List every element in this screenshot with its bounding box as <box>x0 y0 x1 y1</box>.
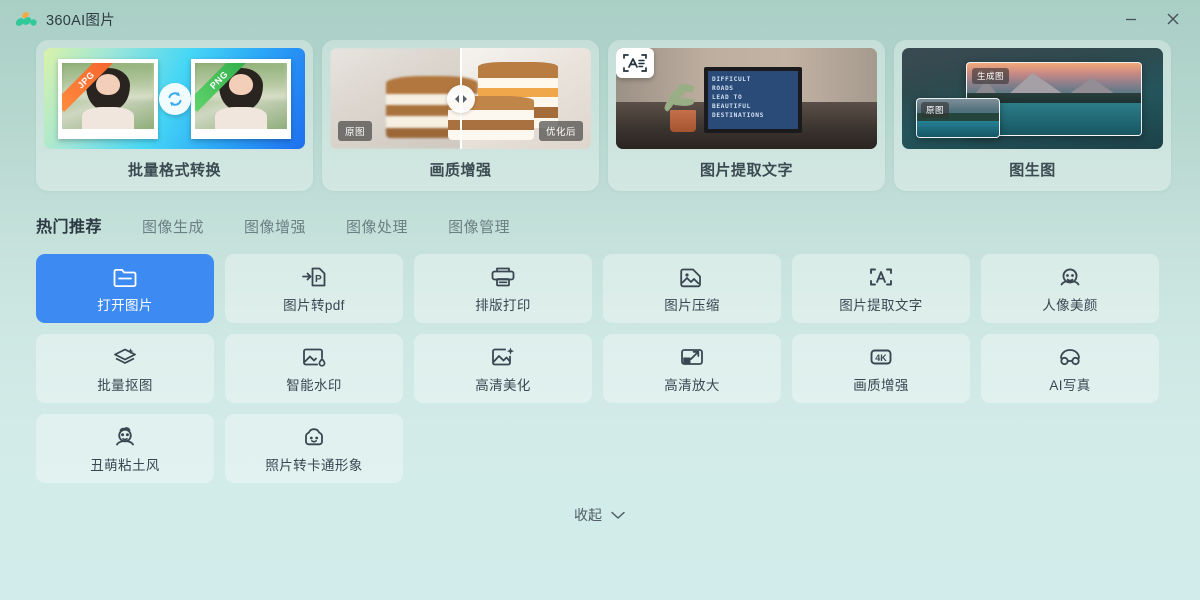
poster-line: DESTINATIONS <box>712 112 794 121</box>
feature-card-label: 批量格式转换 <box>128 159 221 180</box>
tool-open-image[interactable]: 打开图片 <box>36 254 214 323</box>
tool-label: 丑萌粘土风 <box>90 454 160 474</box>
tool-grid: 打开图片 P 图片转pdf 排版打印 <box>0 254 1200 483</box>
tool-label: 高清美化 <box>475 374 531 394</box>
text-scan-icon <box>868 264 894 290</box>
tab-image-manage[interactable]: 图像管理 <box>448 216 510 237</box>
close-icon <box>1164 10 1182 28</box>
chevron-down-icon <box>610 510 626 520</box>
tool-label: 图片提取文字 <box>839 294 922 314</box>
poster-line: BEAUTIFUL <box>712 103 794 112</box>
swap-arrows-icon <box>159 83 191 115</box>
tool-ai-portrait[interactable]: AI写真 <box>981 334 1159 403</box>
compress-image-icon <box>679 264 705 290</box>
feature-card-label: 图片提取文字 <box>700 159 793 180</box>
feature-card-image-to-text[interactable]: DIFFICULT ROADS LEAD TO BEAUTIFUL DESTIN… <box>608 40 885 191</box>
tool-quality-enhance[interactable]: 4K 画质增强 <box>792 334 970 403</box>
tool-label: 批量抠图 <box>97 374 153 394</box>
tab-image-enhance[interactable]: 图像增强 <box>244 216 306 237</box>
tool-layout-print[interactable]: 排版打印 <box>414 254 592 323</box>
clay-style-icon <box>112 424 138 450</box>
collapse-label: 收起 <box>574 505 602 525</box>
badge-original: 原图 <box>338 121 372 141</box>
printer-icon <box>490 264 516 290</box>
svg-text:4K: 4K <box>875 353 887 363</box>
ai-portrait-icon <box>1057 344 1083 370</box>
minimize-icon <box>1123 11 1139 27</box>
poster-line: DIFFICULT <box>712 76 794 85</box>
tool-photo-to-cartoon[interactable]: 照片转卡通形象 <box>225 414 403 483</box>
upscale-arrow-icon <box>679 344 705 370</box>
feature-card-image-to-image[interactable]: 生成图 原图 图生图 <box>894 40 1171 191</box>
tool-hd-upscale[interactable]: 高清放大 <box>603 334 781 403</box>
compare-slider-icon[interactable] <box>447 85 475 113</box>
category-tabs: 热门推荐 图像生成 图像增强 图像处理 图像管理 <box>0 213 1200 241</box>
feature-thumb-quality-enhance: 原图 优化后 <box>330 48 591 149</box>
image-sparkle-icon <box>490 344 516 370</box>
badge-original: 原图 <box>921 102 949 118</box>
tool-label: 打开图片 <box>97 294 153 314</box>
360-dots-logo-icon <box>14 9 38 29</box>
feature-card-label: 图生图 <box>1009 159 1056 180</box>
4k-badge-icon: 4K <box>868 344 894 370</box>
feature-card-row: JPG PNG <box>0 40 1200 191</box>
text-scan-icon <box>616 48 654 78</box>
tool-image-compress[interactable]: 图片压缩 <box>603 254 781 323</box>
close-button[interactable] <box>1152 4 1194 34</box>
svg-text:P: P <box>315 274 322 285</box>
minimize-button[interactable] <box>1110 4 1152 34</box>
tool-batch-cutout[interactable]: 批量抠图 <box>36 334 214 403</box>
window-controls <box>1110 4 1194 34</box>
tool-label: 人像美颜 <box>1042 294 1098 314</box>
tool-portrait-beauty[interactable]: 人像美颜 <box>981 254 1159 323</box>
feature-thumb-image-to-text: DIFFICULT ROADS LEAD TO BEAUTIFUL DESTIN… <box>616 48 877 149</box>
feature-thumb-format-convert: JPG PNG <box>44 48 305 149</box>
folder-open-icon <box>112 264 138 290</box>
badge-optimized: 优化后 <box>539 121 583 141</box>
original-image-preview: 原图 <box>916 98 1000 138</box>
badge-generated: 生成图 <box>972 68 1009 84</box>
tool-label: 照片转卡通形象 <box>265 454 362 474</box>
cutout-layers-icon <box>112 344 138 370</box>
tool-clay-style[interactable]: 丑萌粘土风 <box>36 414 214 483</box>
collapse-button[interactable]: 收起 <box>574 505 626 525</box>
tool-label: 排版打印 <box>475 294 531 314</box>
tool-label: AI写真 <box>1049 374 1090 394</box>
badge-png: PNG <box>195 63 249 117</box>
feature-card-batch-format-convert[interactable]: JPG PNG <box>36 40 313 191</box>
to-pdf-icon: P <box>301 264 327 290</box>
tool-smart-watermark[interactable]: 智能水印 <box>225 334 403 403</box>
tool-label: 智能水印 <box>286 374 342 394</box>
tool-label: 高清放大 <box>664 374 720 394</box>
feature-card-quality-enhance[interactable]: 原图 优化后 画质增强 <box>322 40 599 191</box>
collapse-section: 收起 <box>0 505 1200 525</box>
app-title: 360AI图片 <box>46 9 115 30</box>
tab-image-process[interactable]: 图像处理 <box>346 216 408 237</box>
tab-hot-recommend[interactable]: 热门推荐 <box>36 213 102 237</box>
tool-extract-text[interactable]: 图片提取文字 <box>792 254 970 323</box>
tool-hd-beautify[interactable]: 高清美化 <box>414 334 592 403</box>
face-beauty-icon <box>1057 264 1083 290</box>
cartoon-face-icon <box>301 424 327 450</box>
poster-line: LEAD TO <box>712 94 794 103</box>
poster-line: ROADS <box>712 85 794 94</box>
watermark-icon <box>301 344 327 370</box>
tool-label: 图片压缩 <box>664 294 720 314</box>
badge-jpg: JPG <box>62 63 116 117</box>
tool-label: 画质增强 <box>853 374 909 394</box>
tool-image-to-pdf[interactable]: P 图片转pdf <box>225 254 403 323</box>
app-brand: 360AI图片 <box>14 9 115 30</box>
feature-card-label: 画质增强 <box>429 159 491 180</box>
feature-thumb-image-to-image: 生成图 原图 <box>902 48 1163 149</box>
tab-image-generation[interactable]: 图像生成 <box>142 216 204 237</box>
title-bar: 360AI图片 <box>0 0 1200 38</box>
tool-label: 图片转pdf <box>283 294 345 314</box>
